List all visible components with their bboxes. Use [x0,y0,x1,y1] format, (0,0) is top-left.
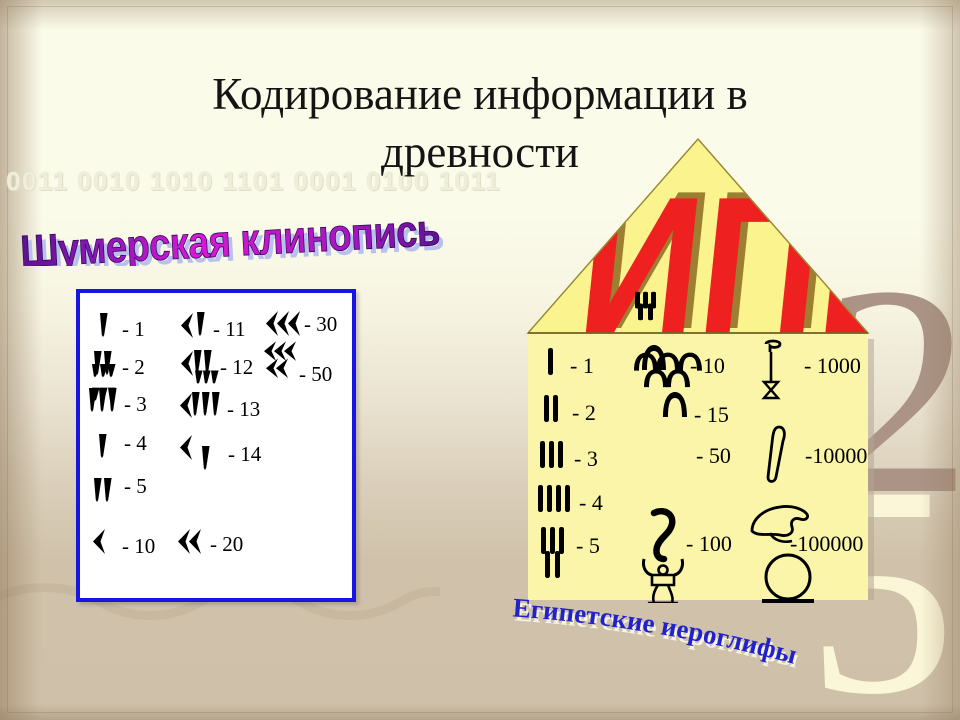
sumerian-heading-label: Шумерская клинопись [19,206,441,266]
egypt-caption-wordart: Египетские иероглифы Египетские иероглиф… [500,596,830,676]
egypt-pyramid-diagram: ЕГИПЕТ ЕГИПЕТ - 1 - 2 - 3 - 4 [522,133,874,603]
egypt-label-5: - 5 [576,533,600,558]
egypt-label-4: - 4 [579,490,603,515]
panel-shadow [868,339,874,600]
cuneiform-glyph-20 [178,529,201,554]
cuneiform-glyph-13 [180,392,220,418]
cuneiform-label-4: - 4 [124,431,147,455]
cuneiform-label-20: - 20 [210,532,243,556]
egypt-label-1000: - 1000 [804,353,861,378]
cuneiform-glyph-10 [93,529,105,554]
cuneiform-label-30: - 30 [304,312,337,336]
slide-canvas: 2 5 0011 0010 1010 1101 0001 0100 1011 К… [0,0,960,720]
cuneiform-label-5: - 5 [124,474,147,498]
cuneiform-label-11: - 11 [213,317,245,341]
cuneiform-label-1: - 1 [122,317,145,341]
cuneiform-label-12: - 12 [220,355,253,379]
cuneiform-label-14: - 14 [228,442,262,466]
egypt-glyph-1 [548,348,553,375]
cuneiform-glyph-50 [264,341,296,378]
egypt-label-2: - 2 [572,400,596,425]
cuneiform-label-3: - 3 [124,392,147,416]
cuneiform-glyph-30 [266,311,300,336]
cuneiform-label-2: - 2 [122,355,145,379]
cuneiform-label-50: - 50 [299,362,332,386]
cuneiform-label-10: - 10 [122,534,155,558]
cuneiform-glyph-1 [100,313,108,337]
egypt-label-100: - 100 [686,531,732,556]
egypt-label-3: - 3 [574,446,598,471]
cuneiform-glyph-11 [181,312,205,338]
egypt-glyph-3 [540,441,563,468]
sumerian-heading-wordart: Шумерская клинопись Шумерская клинопись [18,206,458,266]
egypt-label-100000: -100000 [790,531,863,556]
egypt-caption-label: Египетские иероглифы [512,596,800,670]
cuneiform-number-table: - 1 - 2 - 3 - 4 [76,289,356,602]
egypt-label-15: - 15 [694,402,729,427]
egypt-label-50: - 50 [696,443,731,468]
egypt-label-10000: -10000 [805,443,867,468]
cuneiform-label-13: - 13 [227,397,260,421]
egypt-label-1: - 1 [570,353,594,378]
cuneiform-glyph-14 [180,371,219,470]
